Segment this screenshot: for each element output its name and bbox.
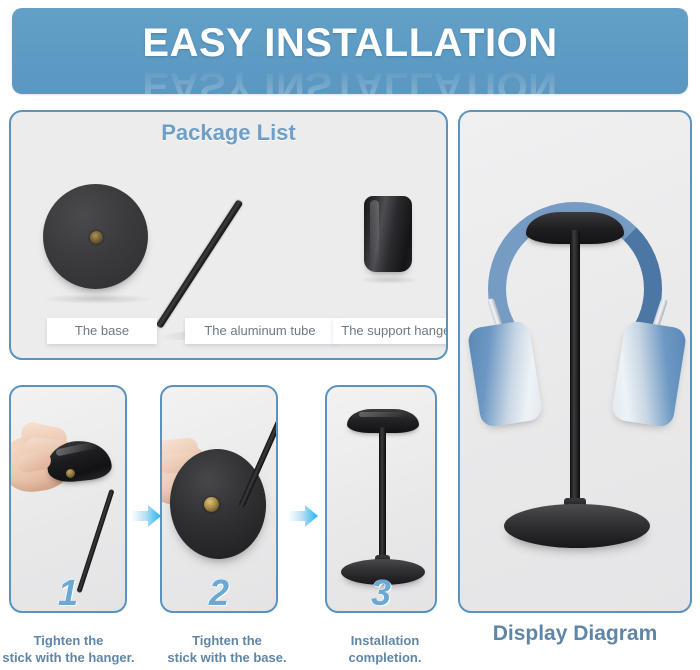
screw-icon bbox=[66, 469, 75, 478]
rod-icon bbox=[156, 199, 244, 329]
arrow-right-icon bbox=[288, 505, 318, 527]
package-list-panel: Package List The base The aluminum tube … bbox=[9, 110, 448, 360]
step-caption-2-line1: Tighten the bbox=[152, 632, 302, 649]
step-panel-1: 1 bbox=[9, 385, 127, 613]
rod-icon bbox=[570, 230, 580, 508]
header-banner: EASY INSTALLATION EASY INSTALLATION bbox=[12, 8, 688, 94]
step-caption-3-line2: completion. bbox=[325, 649, 445, 666]
step-panel-2: 2 bbox=[160, 385, 278, 613]
step-panel-3: 3 bbox=[325, 385, 437, 613]
package-list-title: Package List bbox=[11, 120, 446, 146]
display-diagram-caption: Display Diagram bbox=[458, 622, 692, 646]
disc-base-icon bbox=[504, 504, 650, 548]
step-caption-1: Tighten the stick with the hanger. bbox=[0, 632, 151, 666]
screw-icon bbox=[90, 231, 103, 244]
step-caption-2-line2: stick with the base. bbox=[152, 649, 302, 666]
display-diagram-panel bbox=[458, 110, 692, 613]
step-number-3: 3 bbox=[327, 573, 435, 613]
screw-icon bbox=[204, 497, 219, 512]
page-title-reflection: EASY INSTALLATION bbox=[12, 64, 688, 94]
rod-icon bbox=[379, 427, 386, 567]
hanger-shadow bbox=[359, 276, 419, 284]
page-title: EASY INSTALLATION bbox=[12, 21, 688, 65]
package-item-label-tube: The aluminum tube bbox=[185, 318, 335, 344]
infographic-page: EASY INSTALLATION EASY INSTALLATION Pack… bbox=[0, 0, 700, 670]
disc-base-icon bbox=[43, 184, 148, 289]
hanger-block-icon bbox=[364, 196, 412, 272]
step-number-2: 2 bbox=[162, 573, 276, 613]
package-items bbox=[11, 144, 446, 324]
arrow-right-icon bbox=[131, 505, 161, 527]
step-caption-1-line2: stick with the hanger. bbox=[0, 649, 151, 666]
step-number-1: 1 bbox=[11, 573, 125, 613]
base-shadow bbox=[41, 294, 153, 304]
step-caption-3-line1: Installation bbox=[325, 632, 445, 649]
step-caption-2: Tighten the stick with the base. bbox=[152, 632, 302, 666]
package-item-label-hanger: The support hanger bbox=[333, 318, 448, 344]
step-caption-3: Installation completion. bbox=[325, 632, 445, 666]
step-caption-1-line1: Tighten the bbox=[0, 632, 151, 649]
package-item-label-base: The base bbox=[47, 318, 157, 344]
